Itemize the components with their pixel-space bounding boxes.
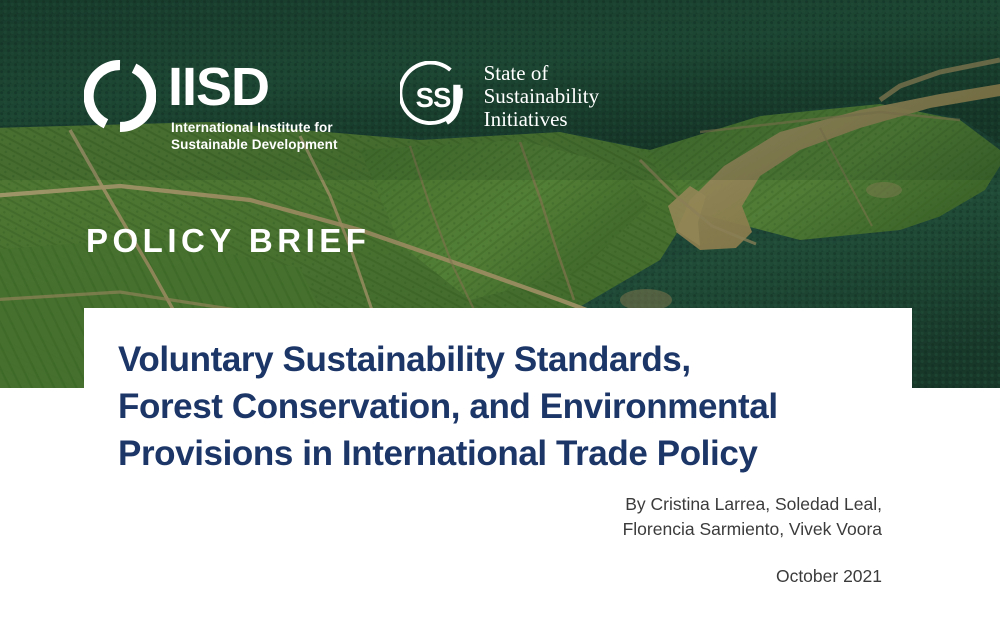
publication-date: October 2021 [623,564,882,589]
authors: By Cristina Larrea, Soledad Leal, Floren… [623,492,882,542]
iisd-logo: IISD International Institute for Sustain… [84,57,338,153]
ssi-name: State of Sustainability Initiatives [484,62,600,133]
policy-brief-kicker: POLICY BRIEF [86,222,370,260]
title-panel: Voluntary Sustainability Standards, Fore… [84,308,912,493]
iisd-circle-mark [84,60,156,132]
logo-bar: IISD International Institute for Sustain… [84,57,599,153]
iisd-text-block: IISD International Institute for Sustain… [168,57,338,153]
policy-brief-cover-page: IISD International Institute for Sustain… [0,0,1000,620]
iisd-wordmark: IISD [168,59,338,115]
page-title: Voluntary Sustainability Standards, Fore… [118,336,878,477]
ssi-logo: SS State of Sustainability Initiatives [400,61,600,133]
iisd-tagline: International Institute for Sustainable … [171,119,338,153]
ssi-circle-mark: SS [400,61,472,133]
byline-block: By Cristina Larrea, Soledad Leal, Floren… [623,492,882,589]
ssi-mark-letters: SS [415,82,451,113]
